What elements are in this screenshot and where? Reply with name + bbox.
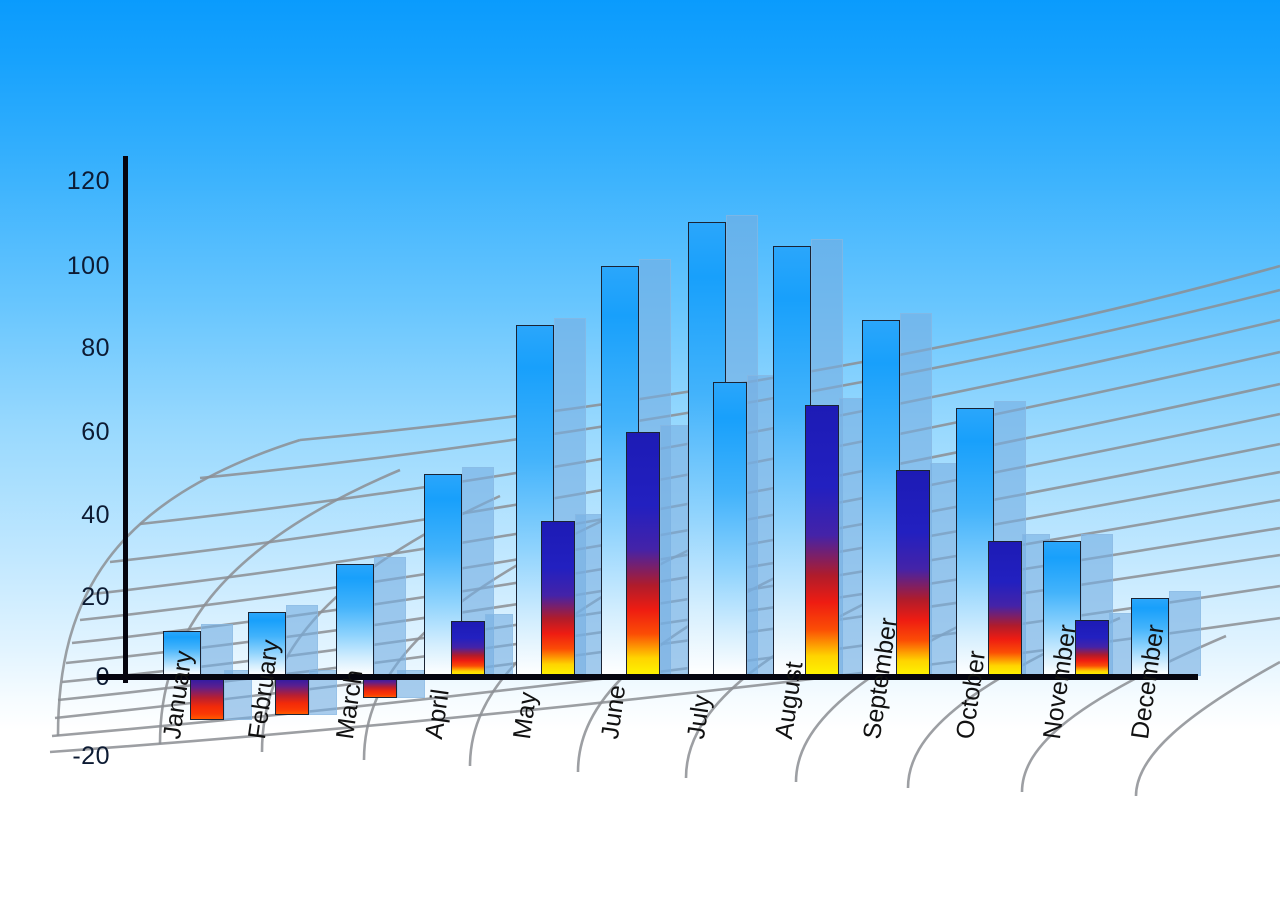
bar-front [626, 432, 660, 676]
bar-april-s2[interactable] [451, 621, 485, 676]
bar-side [660, 425, 688, 676]
bar-front [451, 621, 485, 676]
bar-front [275, 677, 309, 715]
plot-area: 120 100 80 60 40 20 0 -20 [0, 0, 1280, 905]
bar-front [713, 382, 747, 676]
y-tick-60: 60 [55, 418, 110, 447]
bar-side [1169, 591, 1201, 676]
bar-march-s1[interactable] [336, 564, 374, 676]
bar-front [988, 541, 1022, 676]
bar-side [374, 557, 406, 676]
bar-september-s2[interactable] [896, 470, 930, 676]
bar-front [336, 564, 374, 676]
bar-side [575, 514, 603, 676]
bar-february-s2[interactable] [275, 677, 309, 715]
bar-side [286, 605, 318, 676]
x-label-june: June [596, 683, 632, 741]
y-tick-40: 40 [55, 501, 110, 530]
bar-august-s2[interactable] [805, 405, 839, 676]
bar-july-s2[interactable] [713, 382, 747, 676]
bar-front [190, 677, 224, 720]
bar-side [930, 463, 958, 676]
bar-side [201, 624, 233, 676]
y-axis-line [123, 156, 128, 683]
x-label-july: July [682, 693, 717, 741]
bar-front [541, 521, 575, 676]
bar-january-s2[interactable] [190, 677, 224, 720]
bar-june-s2[interactable] [626, 432, 660, 676]
x-label-may: May [508, 690, 543, 741]
bar-front [805, 405, 839, 676]
bar-side [747, 375, 775, 676]
y-tick-neg20: -20 [45, 742, 110, 771]
bar-front [896, 470, 930, 676]
y-tick-120: 120 [55, 167, 110, 196]
y-tick-100: 100 [55, 252, 110, 281]
y-tick-80: 80 [55, 334, 110, 363]
bar-may-s2[interactable] [541, 521, 575, 676]
x-label-april: April [420, 687, 456, 741]
bar-side [485, 614, 513, 676]
y-tick-20: 20 [55, 583, 110, 612]
bar-october-s2[interactable] [988, 541, 1022, 676]
chart-canvas: 120 100 80 60 40 20 0 -20 [0, 0, 1280, 905]
